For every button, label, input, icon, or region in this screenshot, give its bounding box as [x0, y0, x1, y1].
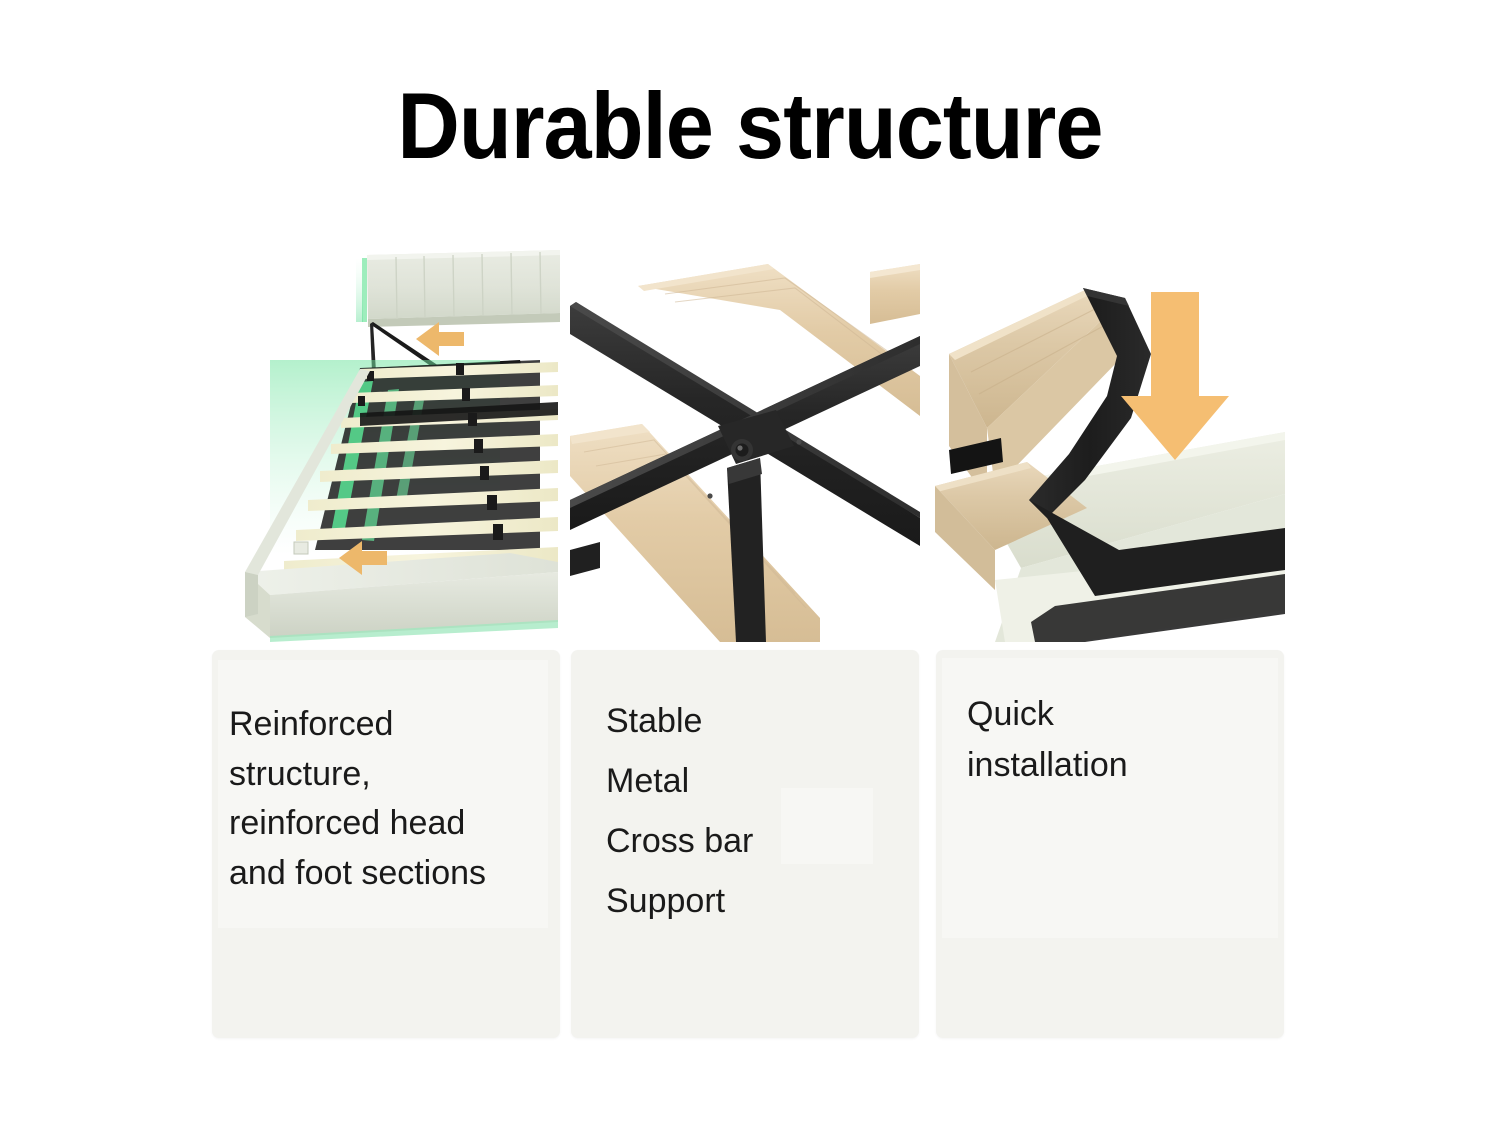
headboard	[356, 250, 560, 327]
caption-text-reinforced-structure: Reinforced structure, reinforced head an…	[229, 700, 546, 898]
quick-installation-slat-clip-photo	[935, 250, 1285, 642]
page-title: Durable structure	[60, 76, 1440, 176]
caption-text-quick-installation: Quick installation	[967, 689, 1270, 791]
wood-slat-top-right	[870, 264, 920, 324]
caption-card-row: Reinforced structure, reinforced head an…	[0, 650, 1500, 1040]
caption-card-quick-installation: Quick installation	[936, 650, 1284, 1038]
caption-card-reinforced-structure: Reinforced structure, reinforced head an…	[212, 650, 560, 1038]
bed-frame-reinforced-structure-photo	[210, 250, 560, 642]
product-photo-row	[0, 250, 1500, 650]
caption-text-metal-cross-bar: Stable Metal Cross bar Support	[606, 691, 905, 931]
caption-card-metal-cross-bar: Stable Metal Cross bar Support	[571, 650, 919, 1038]
metal-cross-bar-support-photo	[570, 250, 920, 642]
